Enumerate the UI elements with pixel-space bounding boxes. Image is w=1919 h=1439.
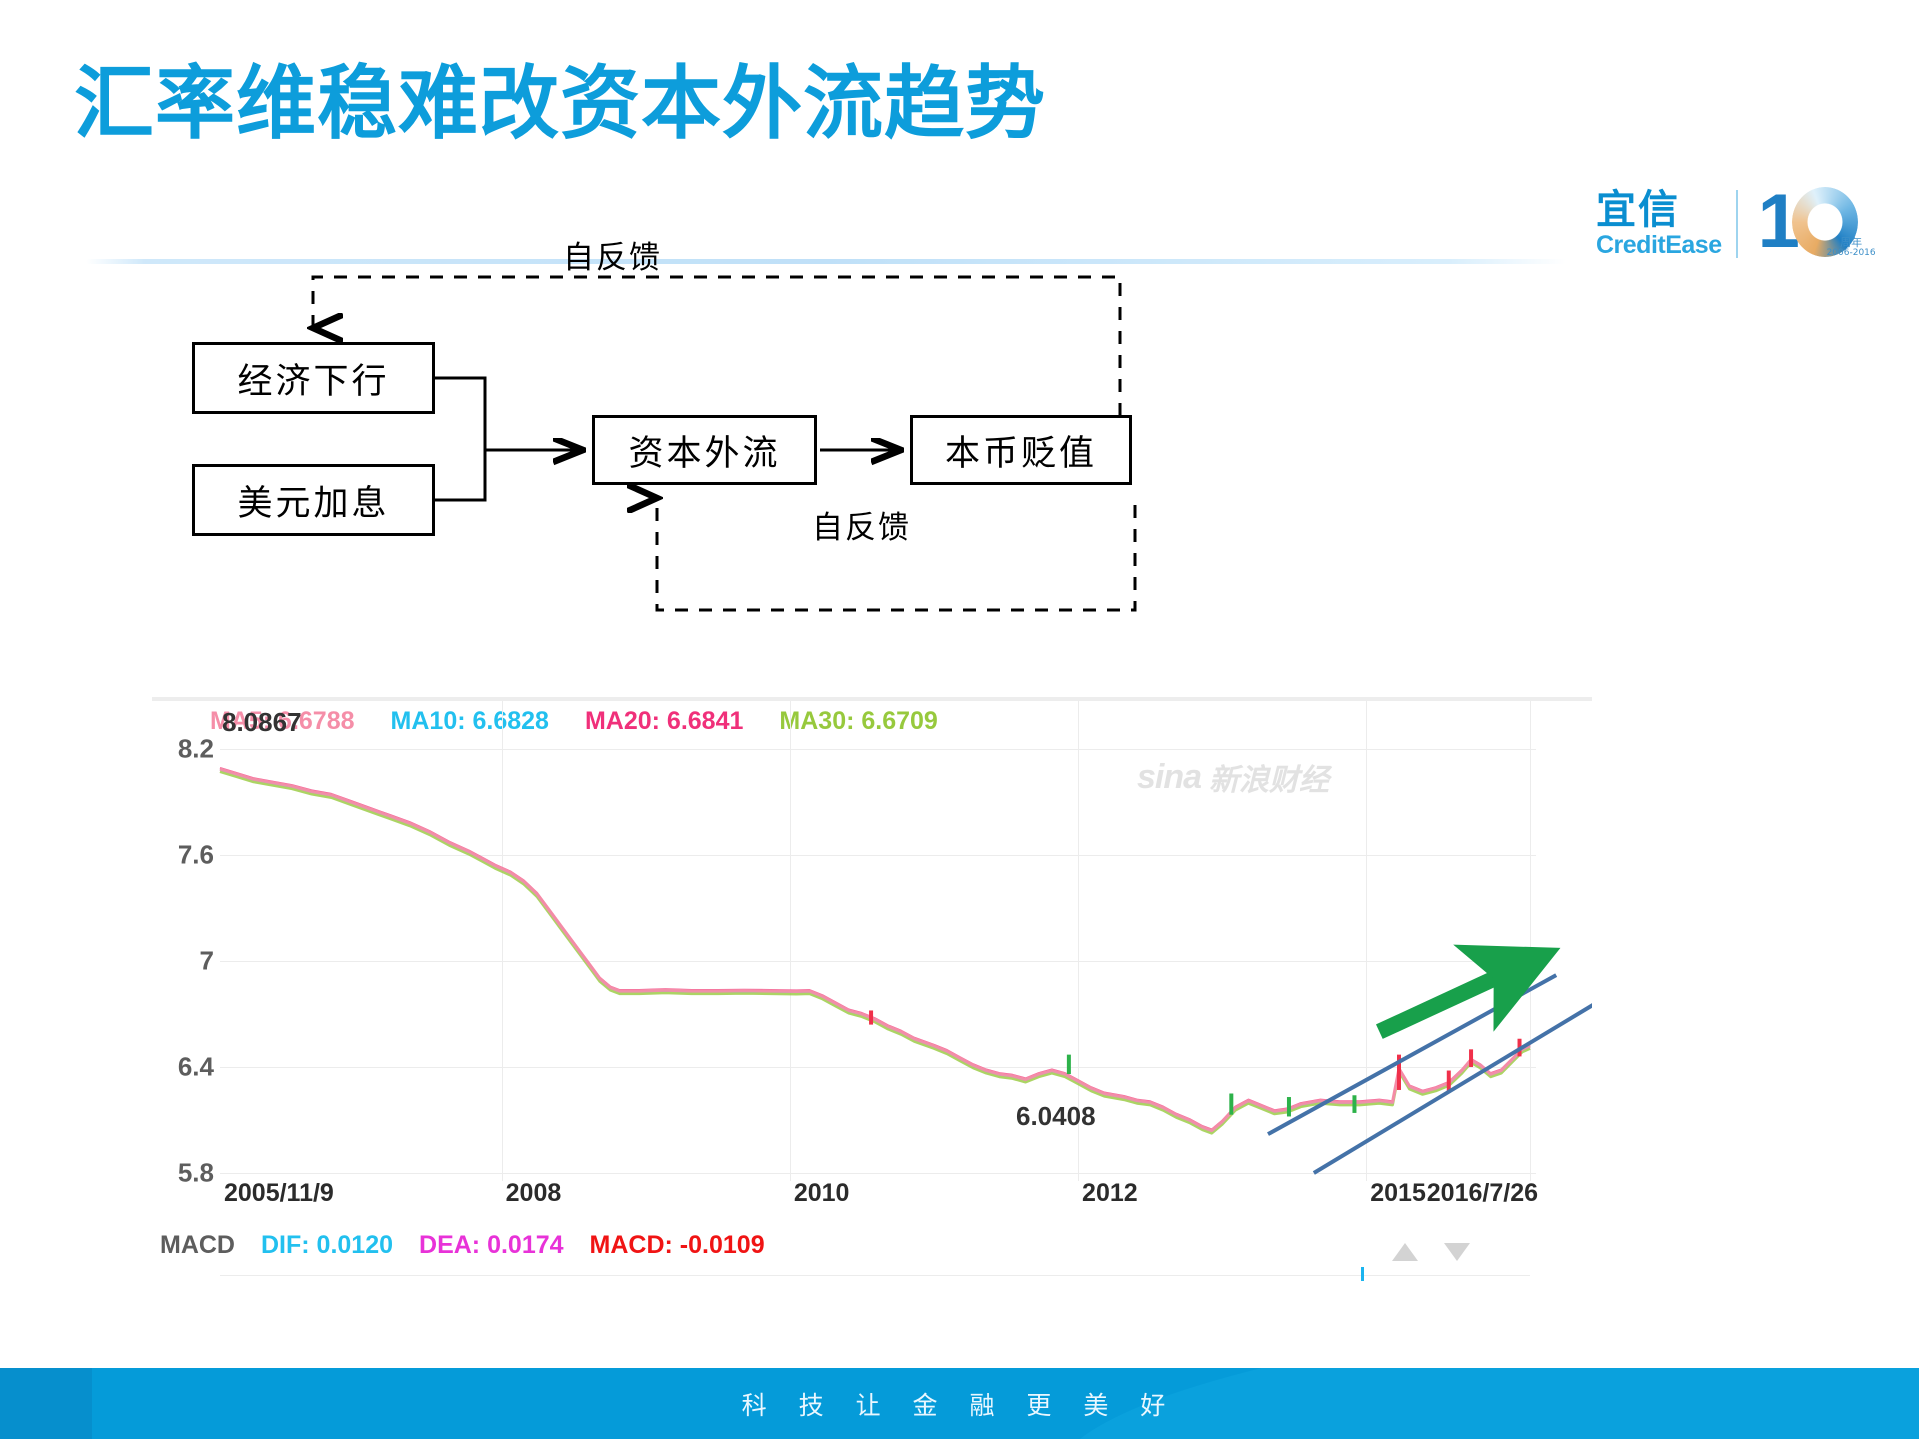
connector-econ-to-outflow — [435, 378, 580, 450]
y-axis-tick-label: 7 — [200, 946, 220, 977]
footer-slogan: 科 技 让 金 融 更 美 好 — [0, 1386, 1919, 1422]
price-line-ma10 — [220, 769, 1530, 1131]
scroll-down-icon[interactable] — [1444, 1243, 1470, 1261]
page-title: 汇率维稳难改资本外流趋势 — [74, 62, 1046, 146]
logo-brand-en: CreditEase — [1596, 233, 1722, 258]
brand-logo: 宜信 CreditEase 1 周年 2006-2016 — [1596, 174, 1896, 274]
gridline-vertical — [1530, 701, 1531, 1181]
anniversary-range: 2006-2016 — [1827, 249, 1876, 259]
flow-box-economic-downturn: 经济下行 — [192, 342, 435, 414]
price-line-ma5 — [220, 769, 1530, 1131]
chart-top-strip — [152, 697, 1592, 701]
legend-ma30: MA30: 6.6709 — [779, 707, 937, 736]
uptrend-arrow-icon — [1379, 968, 1517, 1032]
ma-legend: MA5: 6.6788 MA10: 6.6828 MA20: 6.6841 MA… — [210, 707, 938, 736]
price-line-ma20 — [220, 768, 1530, 1130]
x-axis-tick-label: 2010 — [794, 1179, 850, 1208]
flow-box-capital-outflow: 资本外流 — [592, 415, 817, 485]
flow-box-currency-depreciation: 本币贬值 — [910, 415, 1132, 485]
price-series-canvas — [220, 749, 1530, 1173]
chart-plot-area: 8.27.676.45.8 2005/11/920082010201220152… — [220, 749, 1530, 1173]
anniversary-badge: 1 周年 2006-2016 — [1754, 181, 1872, 267]
connector-usd-to-merge — [435, 450, 485, 500]
feedback-label-top: 自反馈 — [563, 232, 662, 277]
x-axis-tick-label: 2012 — [1082, 1179, 1138, 1208]
annotation-low-value: 6.0408 — [1016, 1101, 1096, 1132]
feedback-label-bottom: 自反馈 — [812, 502, 911, 547]
legend-ma20: MA20: 6.6841 — [585, 707, 743, 736]
causal-flow-diagram: 经济下行 美元加息 资本外流 本币贬值 自反馈 自反馈 — [180, 280, 1430, 700]
gridline-horizontal — [220, 1173, 1536, 1174]
trend-channel-lower-line — [1314, 1003, 1592, 1173]
x-axis-tick-label: 2016/7/26 — [1427, 1179, 1538, 1208]
logo-divider — [1736, 190, 1738, 258]
watermark-cn: 新浪财经 — [1209, 755, 1329, 799]
macd-indicator-row: MACD DIF: 0.0120 DEA: 0.0174 MACD: -0.01… — [152, 1231, 1592, 1260]
logo-brand-cn: 宜信 — [1596, 190, 1680, 230]
legend-ma10: MA10: 6.6828 — [391, 707, 549, 736]
macd-dif: DIF: 0.0120 — [261, 1231, 393, 1260]
macd-label: MACD — [160, 1231, 235, 1260]
exchange-rate-chart: MA5: 6.6788 MA10: 6.6828 MA20: 6.6841 MA… — [152, 697, 1592, 1309]
y-axis-tick-label: 5.8 — [178, 1158, 220, 1189]
slide-footer: 科 技 让 金 融 更 美 好 — [0, 1368, 1919, 1439]
x-axis-tick-label: 2008 — [506, 1179, 562, 1208]
anniversary-caption: 周年 2006-2016 — [1827, 237, 1876, 259]
x-axis-tick-label: 2005/11/9 — [224, 1179, 334, 1208]
sina-watermark: sina 新浪财经 — [1137, 755, 1329, 799]
slide-canvas: 汇率维稳难改资本外流趋势 宜信 CreditEase 1 周年 2006-201… — [0, 0, 1919, 1439]
macd-value: MACD: -0.0109 — [590, 1231, 765, 1260]
title-divider — [86, 259, 1566, 264]
flow-box-usd-rate-hike: 美元加息 — [192, 464, 435, 536]
macd-dea: DEA: 0.0174 — [419, 1231, 564, 1260]
macd-current-tick — [1361, 1267, 1364, 1281]
y-axis-tick-label: 7.6 — [178, 840, 220, 871]
y-axis-tick-label: 6.4 — [178, 1052, 220, 1083]
annotation-high-value: 8.0867 — [222, 707, 302, 738]
y-axis-tick-label: 8.2 — [178, 734, 220, 765]
scroll-up-icon[interactable] — [1392, 1243, 1418, 1261]
macd-baseline — [220, 1275, 1530, 1276]
x-axis-tick-label: 2015 — [1370, 1179, 1426, 1208]
watermark-latin: sina — [1137, 758, 1201, 797]
logo-wordmark: 宜信 CreditEase — [1596, 190, 1722, 258]
